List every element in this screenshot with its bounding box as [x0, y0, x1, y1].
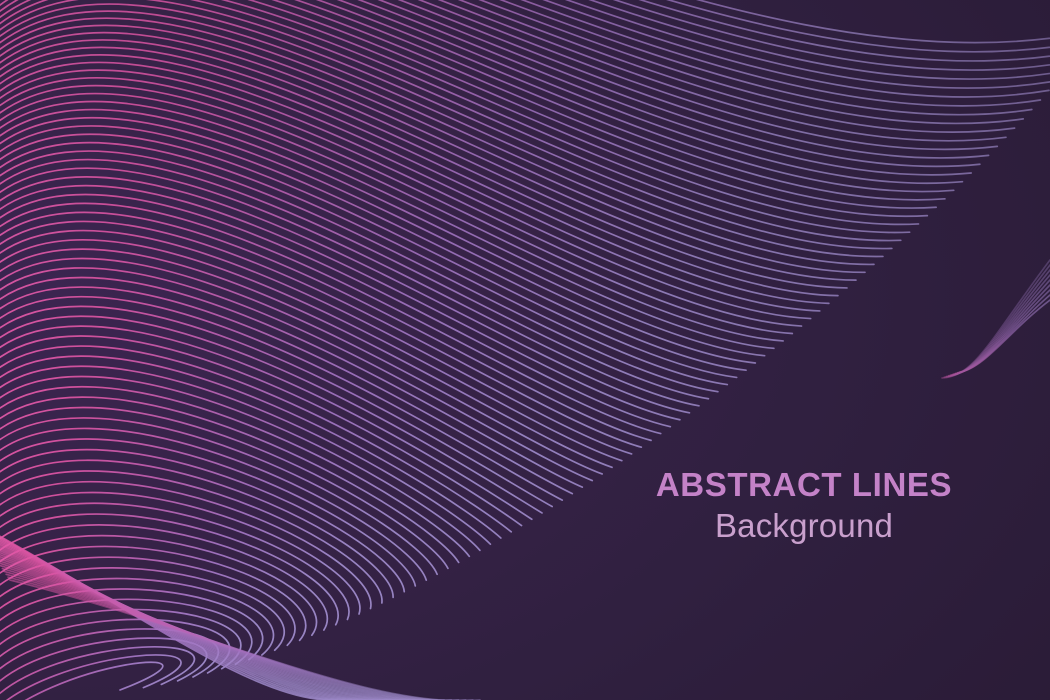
- wave-curl-line: [942, 260, 1050, 378]
- wave-line: [0, 186, 680, 420]
- wave-line: [0, 0, 1023, 123]
- wave-line: [0, 0, 1050, 79]
- wave-line: [0, 221, 641, 447]
- wave-line: [0, 0, 945, 200]
- caption-block: ABSTRACT LINES Background: [645, 468, 963, 545]
- wave-line: [0, 194, 670, 426]
- wave-line: [0, 638, 207, 693]
- wave-line: [0, 287, 572, 494]
- page-title: ABSTRACT LINES: [645, 468, 963, 503]
- abstract-background-poster: ABSTRACT LINES Background: [0, 0, 1050, 700]
- wave-line: [0, 408, 448, 569]
- wave-line: [0, 94, 783, 341]
- wave-line: [0, 277, 582, 487]
- wave-line: [0, 203, 661, 433]
- wave-line: [0, 366, 490, 544]
- wave-line: [0, 0, 1050, 43]
- wave-line: [0, 134, 737, 377]
- wave-line: [0, 662, 163, 700]
- wave-line: [0, 0, 989, 158]
- page-subtitle: Background: [645, 507, 963, 545]
- wave-line: [0, 126, 746, 370]
- abstract-wave-line-field: [0, 0, 1050, 700]
- wave-line: [0, 0, 1032, 115]
